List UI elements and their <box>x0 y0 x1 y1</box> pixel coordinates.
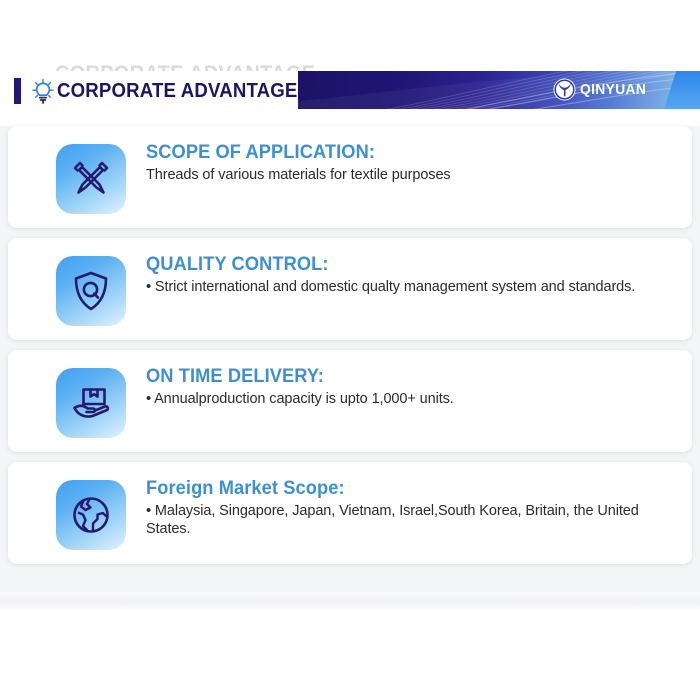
advantage-card[interactable]: Foreign Market Scope: • Malaysia, Singap… <box>8 462 692 564</box>
advantage-card[interactable]: QUALITY CONTROL: • Strict international … <box>8 238 692 340</box>
brand-logo: QINYUAN <box>552 77 652 102</box>
card-body: ON TIME DELIVERY: • Annualproduction cap… <box>126 364 676 409</box>
advantage-card-list: SCOPE OF APPLICATION: Threads of various… <box>0 126 700 574</box>
bottom-band <box>0 592 700 609</box>
card-text: • Malaysia, Singapore, Japan, Vietnam, I… <box>146 503 646 539</box>
card-title: ON TIME DELIVERY: <box>146 366 655 388</box>
page-header: CORPORATE ADVANTAGE <box>0 62 700 114</box>
card-body: QUALITY CONTROL: • Strict international … <box>126 252 676 297</box>
card-body: Foreign Market Scope: • Malaysia, Singap… <box>126 476 676 539</box>
advantage-card[interactable]: SCOPE OF APPLICATION: Threads of various… <box>8 126 692 228</box>
card-title: QUALITY CONTROL: <box>146 254 655 276</box>
header-accent-bar <box>14 78 21 104</box>
card-title: Foreign Market Scope: <box>146 478 655 500</box>
card-text: Threads of various materials for textile… <box>146 167 646 185</box>
card-text: • Annualproduction capacity is upto 1,00… <box>146 391 646 409</box>
card-text: • Strict international and domestic qual… <box>146 279 646 297</box>
page-root: CORPORATE ADVANTAGE <box>0 0 700 700</box>
hand-package-icon <box>56 368 126 438</box>
qinyuan-logo-mark <box>552 77 577 102</box>
crossed-needles-icon <box>56 144 126 214</box>
lightbulb-icon <box>28 76 58 106</box>
brand-name: QINYUAN <box>580 81 646 98</box>
advantage-card[interactable]: ON TIME DELIVERY: • Annualproduction cap… <box>8 350 692 452</box>
card-body: SCOPE OF APPLICATION: Threads of various… <box>126 140 676 185</box>
header-bar: CORPORATE ADVANTAGE <box>0 71 700 109</box>
shield-q-icon <box>56 256 126 326</box>
globe-icon <box>56 480 126 550</box>
page-title: CORPORATE ADVANTAGE <box>57 80 298 103</box>
header-banner: QINYUAN <box>298 71 700 109</box>
card-title: SCOPE OF APPLICATION: <box>146 142 655 164</box>
